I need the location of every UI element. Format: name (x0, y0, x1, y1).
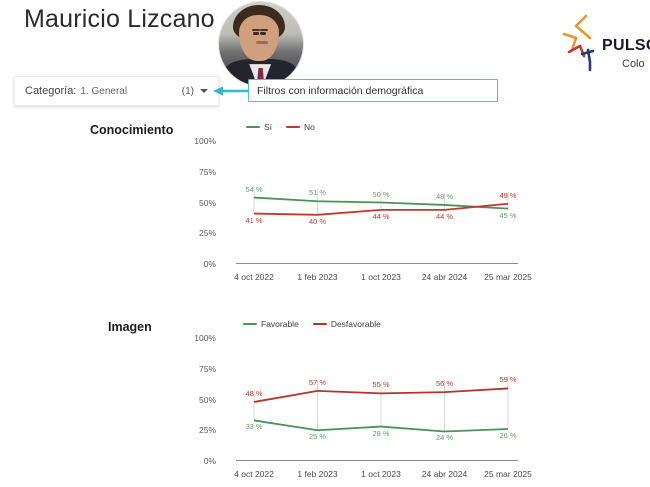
avatar-eye-left (253, 32, 259, 35)
data-point-label: 55 % (372, 380, 389, 389)
data-point-label: 48 % (436, 192, 453, 201)
data-point-label: 54 % (245, 185, 262, 194)
data-point-label: 45 % (499, 211, 516, 220)
legend-swatch-no (286, 126, 300, 129)
chart-legend: Favorable Desfavorable (243, 319, 381, 329)
x-axis-tick-label: 24 abr 2024 (422, 272, 467, 282)
legend-item[interactable]: No (286, 122, 315, 132)
data-point-label: 59 % (499, 375, 516, 384)
x-axis-tick-label: 1 feb 2023 (297, 469, 337, 479)
chart-imagen: Imagen Favorable Desfavorable 0%25%50%75… (0, 315, 650, 485)
data-point-label: 28 % (372, 429, 389, 438)
chart-conocimiento: Conocimiento Sí No 0%25%50%75%100%54 %51… (0, 118, 650, 288)
y-axis-tick-label: 75% (199, 364, 216, 374)
data-point-label: 49 % (499, 191, 516, 200)
star-mark-icon (560, 12, 604, 72)
avatar (218, 1, 304, 87)
x-axis-line (236, 263, 518, 264)
data-point-label: 41 % (245, 216, 262, 225)
legend-label: No (304, 122, 315, 132)
category-filter-value: 1. General (80, 86, 127, 97)
y-axis-tick-label: 50% (199, 395, 216, 405)
y-axis-tick-label: 25% (199, 425, 216, 435)
x-axis-line (236, 460, 518, 461)
data-point-label: 51 % (309, 188, 326, 197)
data-point-label: 44 % (372, 212, 389, 221)
y-axis-tick-label: 25% (199, 228, 216, 238)
logo-wordmark: PULSOP (602, 37, 650, 55)
logo-subtitle: Colo (622, 58, 645, 70)
data-point-label: 25 % (309, 432, 326, 441)
chart-title: Imagen (108, 320, 152, 334)
chevron-down-icon[interactable] (200, 89, 208, 93)
brand-logo: PULSOP Colo (560, 12, 650, 82)
y-axis-tick-label: 100% (194, 333, 216, 343)
category-filter-label: Categoría: (25, 85, 76, 97)
filters-callout-text: Filtros con información demográfica (257, 85, 423, 97)
page-title: Mauricio Lizcano (24, 5, 215, 34)
legend-swatch-favorable (243, 323, 257, 326)
x-axis-tick-label: 25 mar 2025 (484, 272, 532, 282)
avatar-eye-right (260, 32, 266, 35)
plot-area: 0%25%50%75%100%33 %25 %28 %24 %26 %48 %5… (218, 333, 518, 483)
data-point-label: 40 % (309, 217, 326, 226)
legend-label: Desfavorable (331, 319, 381, 329)
chart-legend: Sí No (246, 122, 315, 132)
legend-item[interactable]: Sí (246, 122, 272, 132)
legend-label: Sí (264, 122, 272, 132)
x-axis-tick-label: 4 oct 2022 (234, 469, 274, 479)
avatar-mouth (256, 41, 268, 44)
x-axis-tick-label: 4 oct 2022 (234, 272, 274, 282)
x-axis-tick-label: 1 feb 2023 (297, 272, 337, 282)
data-point-label: 44 % (436, 212, 453, 221)
legend-swatch-si (246, 126, 260, 129)
data-point-label: 57 % (309, 378, 326, 387)
plot-area: 0%25%50%75%100%54 %51 %50 %48 %45 %41 %4… (218, 136, 518, 286)
data-point-label: 50 % (372, 190, 389, 199)
data-point-label: 33 % (245, 422, 262, 431)
data-point-label: 24 % (436, 433, 453, 442)
y-axis-tick-label: 0% (204, 259, 216, 269)
y-axis-tick-label: 0% (204, 456, 216, 466)
legend-item[interactable]: Desfavorable (313, 319, 381, 329)
legend-swatch-desfavorable (313, 323, 327, 326)
x-axis-tick-label: 1 oct 2023 (361, 272, 401, 282)
category-filter-dropdown[interactable]: Categoría: 1. General (1) (14, 76, 219, 106)
x-axis-tick-label: 25 mar 2025 (484, 469, 532, 479)
x-axis-tick-label: 24 abr 2024 (422, 469, 467, 479)
filters-callout: Filtros con información demográfica (248, 79, 498, 102)
legend-item[interactable]: Favorable (243, 319, 299, 329)
category-filter-count: (1) (182, 86, 194, 97)
x-axis-tick-label: 1 oct 2023 (361, 469, 401, 479)
data-point-label: 26 % (499, 431, 516, 440)
y-axis-tick-label: 75% (199, 167, 216, 177)
y-axis-tick-label: 50% (199, 198, 216, 208)
y-axis-tick-label: 100% (194, 136, 216, 146)
data-point-label: 56 % (436, 379, 453, 388)
legend-label: Favorable (261, 319, 299, 329)
data-point-label: 48 % (245, 389, 262, 398)
chart-title: Conocimiento (90, 123, 173, 137)
